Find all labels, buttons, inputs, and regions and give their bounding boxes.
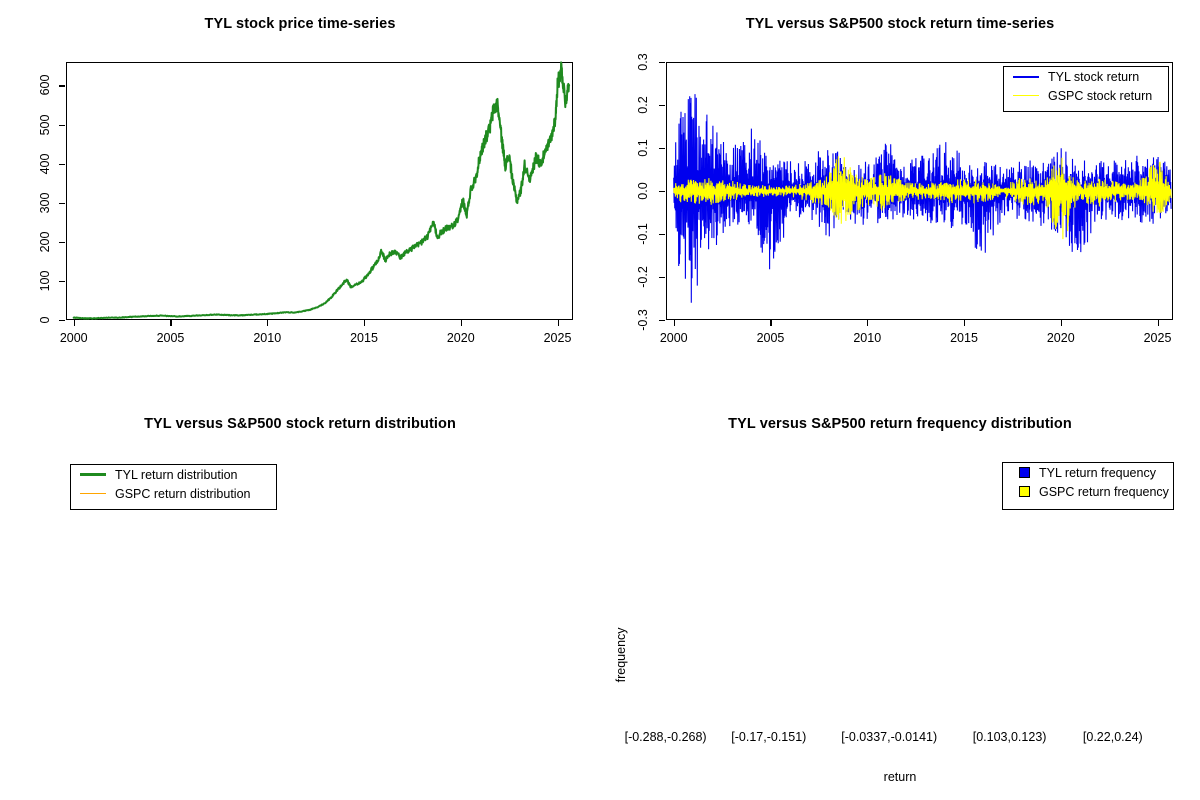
y-tick xyxy=(659,277,665,278)
panel3-series-layer xyxy=(0,400,600,800)
x-tick-label: 2005 xyxy=(757,331,785,345)
x-tick-label: 2020 xyxy=(1047,331,1075,345)
y-tick-label: -0.1 xyxy=(636,223,650,245)
legend-label: GSPC stock return xyxy=(1048,89,1152,103)
tyl-line-swatch-icon xyxy=(1013,76,1039,78)
legend-item: GSPC return frequency xyxy=(1003,482,1173,501)
x-tick-label: 2010 xyxy=(853,331,881,345)
x-tick-label: 2020 xyxy=(447,331,475,345)
y-tick xyxy=(59,164,65,165)
tyl-square-swatch-icon xyxy=(1019,467,1030,478)
x-tick xyxy=(1158,320,1159,326)
y-tick xyxy=(659,62,665,63)
panel1-plot-frame xyxy=(66,62,573,320)
y-tick xyxy=(659,320,665,321)
legend-item: TYL return distribution xyxy=(71,465,276,484)
gspc-line-swatch-icon xyxy=(1013,95,1039,96)
x-tick-label: [0.103,0.123) xyxy=(973,730,1047,744)
panel4-legend: TYL return frequency GSPC return frequen… xyxy=(1002,462,1174,510)
x-tick xyxy=(770,320,771,326)
x-tick xyxy=(170,320,171,326)
panel4-y-axis-label: frequency xyxy=(614,627,628,682)
tyl-density-swatch-icon xyxy=(80,473,106,476)
y-tick-label: 400 xyxy=(38,153,52,174)
x-tick-label: 2025 xyxy=(544,331,572,345)
y-tick xyxy=(59,203,65,204)
x-tick-label: 2000 xyxy=(60,331,88,345)
y-tick-label: 0.0 xyxy=(636,182,650,199)
x-tick xyxy=(1061,320,1062,326)
y-tick-label: 0.3 xyxy=(636,53,650,70)
x-tick-label: 2015 xyxy=(950,331,978,345)
panel-tyl-price: TYL stock price time-series 200020052010… xyxy=(0,0,600,400)
y-tick-label: 200 xyxy=(38,231,52,252)
figure-canvas: TYL stock price time-series 200020052010… xyxy=(0,0,1200,800)
panel-return-density: TYL versus S&P500 stock return distribut… xyxy=(0,400,600,800)
x-tick xyxy=(558,320,559,326)
legend-label: TYL stock return xyxy=(1048,70,1139,84)
y-tick-label: -0.2 xyxy=(636,266,650,288)
x-tick-label: 2010 xyxy=(253,331,281,345)
x-tick xyxy=(461,320,462,326)
legend-item: GSPC stock return xyxy=(1004,86,1168,105)
y-tick xyxy=(59,125,65,126)
y-tick-label: 600 xyxy=(38,75,52,96)
legend-label: GSPC return distribution xyxy=(115,487,250,501)
legend-item: GSPC return distribution xyxy=(71,484,276,503)
y-tick-label: 0 xyxy=(38,317,52,324)
y-tick-label: -0.3 xyxy=(636,309,650,331)
y-tick xyxy=(659,148,665,149)
y-tick-label: 500 xyxy=(38,114,52,135)
x-tick-label: [0.22,0.24) xyxy=(1083,730,1143,744)
y-tick xyxy=(659,234,665,235)
y-tick xyxy=(659,105,665,106)
gspc-square-swatch-icon xyxy=(1019,486,1030,497)
panel2-legend: TYL stock return GSPC stock return xyxy=(1003,66,1169,112)
y-tick xyxy=(59,85,65,86)
y-tick xyxy=(59,281,65,282)
x-tick xyxy=(74,320,75,326)
x-tick xyxy=(674,320,675,326)
x-tick-label: 2025 xyxy=(1144,331,1172,345)
panel3-title: TYL versus S&P500 stock return distribut… xyxy=(0,416,600,432)
gspc-density-swatch-icon xyxy=(80,493,106,494)
x-tick-label: [-0.0337,-0.0141) xyxy=(841,730,937,744)
x-tick xyxy=(267,320,268,326)
panel3-legend: TYL return distribution GSPC return dist… xyxy=(70,464,277,510)
y-tick xyxy=(59,242,65,243)
x-tick-label: 2005 xyxy=(157,331,185,345)
legend-item: TYL stock return xyxy=(1004,67,1168,86)
legend-label: GSPC return frequency xyxy=(1039,485,1169,499)
x-tick-label: [-0.17,-0.151) xyxy=(731,730,806,744)
panel4-title: TYL versus S&P500 return frequency distr… xyxy=(600,416,1200,432)
x-tick xyxy=(964,320,965,326)
legend-label: TYL return distribution xyxy=(115,468,238,482)
x-tick-label: 2015 xyxy=(350,331,378,345)
panel-returns-timeseries: TYL versus S&P500 stock return time-seri… xyxy=(600,0,1200,400)
legend-item: TYL return frequency xyxy=(1003,463,1173,482)
y-tick-label: 0.1 xyxy=(636,139,650,156)
panel1-title: TYL stock price time-series xyxy=(0,16,600,32)
y-tick xyxy=(659,191,665,192)
panel2-title: TYL versus S&P500 stock return time-seri… xyxy=(600,16,1200,32)
y-tick-label: 0.2 xyxy=(636,96,650,113)
y-tick xyxy=(59,320,65,321)
y-tick-label: 300 xyxy=(38,192,52,213)
legend-label: TYL return frequency xyxy=(1039,466,1156,480)
x-tick xyxy=(867,320,868,326)
x-tick xyxy=(364,320,365,326)
x-tick-label: [-0.288,-0.268) xyxy=(625,730,707,744)
panel-return-histogram: TYL versus S&P500 return frequency distr… xyxy=(600,400,1200,800)
x-tick-label: 2000 xyxy=(660,331,688,345)
panel4-x-axis-label: return xyxy=(600,770,1200,784)
y-tick-label: 100 xyxy=(38,270,52,291)
